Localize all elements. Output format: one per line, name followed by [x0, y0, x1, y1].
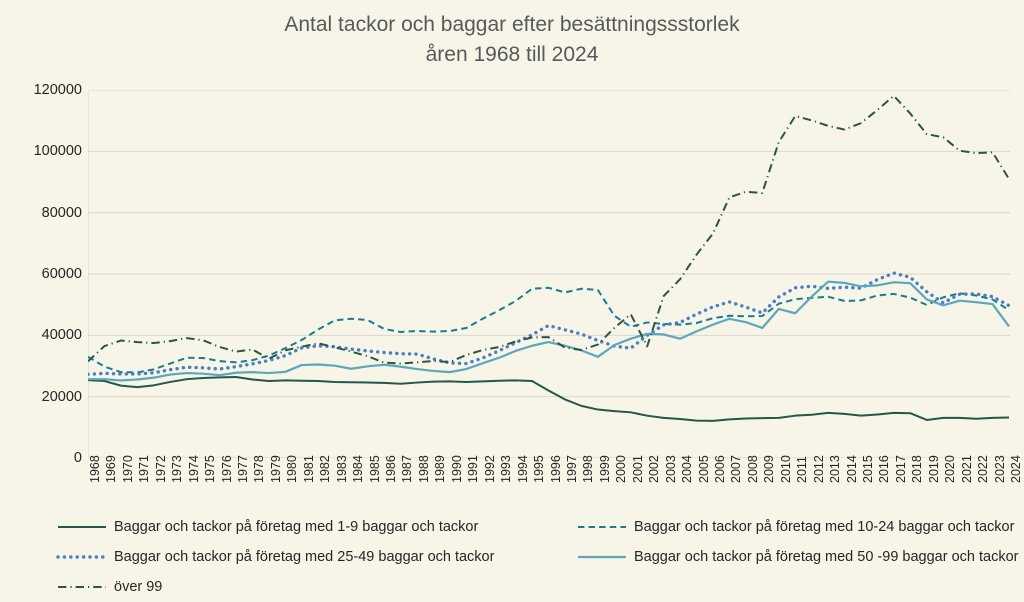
x-tick-label: 2013	[828, 469, 842, 483]
series-group	[88, 96, 1009, 421]
x-tick-label: 2014	[845, 469, 859, 483]
x-tick-label: 1976	[220, 469, 234, 483]
x-tick-label: 1974	[187, 469, 201, 483]
series-line-5	[88, 96, 1009, 364]
x-tick-label: 2010	[779, 469, 793, 483]
x-tick-label: 1985	[368, 469, 382, 483]
x-tick-label: 1983	[335, 469, 349, 483]
x-tick-label: 2022	[976, 469, 990, 483]
x-tick-label: 2005	[697, 469, 711, 483]
x-tick-label: 2008	[746, 469, 760, 483]
x-tick-label: 2021	[960, 469, 974, 483]
x-axis: 1968196919701971197219731974197519761977…	[88, 462, 1010, 510]
x-tick-label: 1998	[581, 469, 595, 483]
x-tick-label: 2020	[943, 469, 957, 483]
x-tick-label: 1986	[384, 469, 398, 483]
x-tick-label: 1975	[203, 469, 217, 483]
legend-item[interactable]: Baggar och tackor på företag med 10-24 b…	[576, 514, 1014, 540]
x-tick-label: 1977	[236, 469, 250, 483]
x-tick-label: 1993	[499, 469, 513, 483]
chart-legend: Baggar och tackor på företag med 1-9 bag…	[56, 514, 1016, 600]
x-tick-label: 2003	[664, 469, 678, 483]
y-tick-label: 0	[6, 451, 82, 466]
x-tick-label: 1969	[104, 469, 118, 483]
legend-item[interactable]: Baggar och tackor på företag med 25-49 b…	[56, 544, 494, 570]
x-tick-label: 1991	[466, 469, 480, 483]
x-tick-label: 2012	[812, 469, 826, 483]
y-tick-label: 40000	[6, 328, 82, 343]
legend-swatch-solid	[576, 550, 628, 564]
x-tick-label: 1997	[565, 469, 579, 483]
legend-swatch-solid	[56, 520, 108, 534]
x-tick-label: 1973	[170, 469, 184, 483]
legend-label: Baggar och tackor på företag med 50 -99 …	[634, 549, 1018, 565]
x-tick-label: 2007	[729, 469, 743, 483]
x-tick-label: 1990	[450, 469, 464, 483]
x-tick-label: 2000	[614, 469, 628, 483]
x-tick-label: 2018	[910, 469, 924, 483]
series-line-2	[88, 288, 1009, 373]
x-tick-label: 1982	[318, 469, 332, 483]
legend-label: Baggar och tackor på företag med 10-24 b…	[634, 519, 1014, 535]
x-tick-label: 2006	[713, 469, 727, 483]
x-tick-label: 1987	[400, 469, 414, 483]
x-tick-label: 2019	[927, 469, 941, 483]
plot-area	[88, 90, 1010, 458]
x-tick-label: 2016	[877, 469, 891, 483]
legend-swatch-dotted	[56, 550, 108, 564]
legend-label: Baggar och tackor på företag med 25-49 b…	[114, 549, 494, 565]
y-tick-label: 20000	[6, 390, 82, 405]
y-tick-label: 120000	[6, 83, 82, 98]
x-tick-label: 2017	[894, 469, 908, 483]
x-tick-label: 1980	[285, 469, 299, 483]
x-tick-label: 1970	[121, 469, 135, 483]
chart-page: Antal tackor och baggar efter besättning…	[0, 0, 1024, 602]
legend-swatch-dashdot	[56, 580, 108, 594]
x-tick-label: 1984	[351, 469, 365, 483]
x-tick-label: 2002	[647, 469, 661, 483]
x-tick-label: 2001	[631, 469, 645, 483]
x-tick-label: 2024	[1009, 469, 1023, 483]
x-tick-label: 2011	[795, 469, 809, 483]
legend-label: över 99	[114, 579, 162, 595]
x-tick-label: 1981	[302, 469, 316, 483]
x-tick-label: 2023	[993, 469, 1007, 483]
x-tick-label: 1979	[269, 469, 283, 483]
legend-label: Baggar och tackor på företag med 1-9 bag…	[114, 519, 478, 535]
x-tick-label: 1988	[417, 469, 431, 483]
x-tick-label: 1989	[433, 469, 447, 483]
legend-item[interactable]: Baggar och tackor på företag med 1-9 bag…	[56, 514, 478, 540]
x-tick-label: 1995	[532, 469, 546, 483]
x-tick-label: 1992	[483, 469, 497, 483]
gridlines	[88, 90, 1010, 458]
x-tick-label: 2004	[680, 469, 694, 483]
x-tick-label: 1994	[516, 469, 530, 483]
plot-svg	[88, 90, 1010, 458]
y-axis: 020000400006000080000100000120000	[0, 90, 82, 458]
x-tick-label: 1972	[154, 469, 168, 483]
y-tick-label: 100000	[6, 144, 82, 159]
x-tick-label: 1999	[598, 469, 612, 483]
y-tick-label: 80000	[6, 206, 82, 221]
legend-item[interactable]: över 99	[56, 574, 162, 600]
x-tick-label: 1968	[88, 469, 102, 483]
y-tick-label: 60000	[6, 267, 82, 282]
page-title: Antal tackor och baggar efter besättning…	[0, 10, 1024, 70]
legend-swatch-dashed	[576, 520, 628, 534]
series-line-1	[88, 377, 1009, 421]
legend-item[interactable]: Baggar och tackor på företag med 50 -99 …	[576, 544, 1018, 570]
x-tick-label: 2015	[861, 469, 875, 483]
x-tick-label: 1978	[252, 469, 266, 483]
x-tick-label: 2009	[762, 469, 776, 483]
x-tick-label: 1971	[137, 469, 151, 483]
x-tick-label: 1996	[549, 469, 563, 483]
